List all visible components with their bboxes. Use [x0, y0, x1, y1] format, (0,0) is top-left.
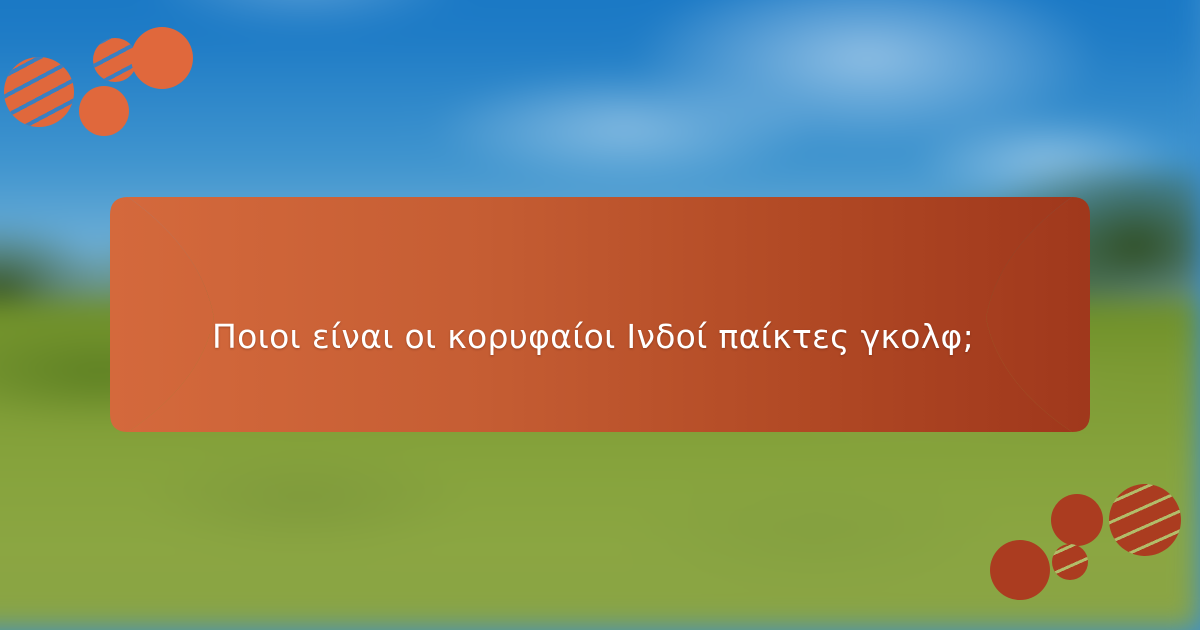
- ball-large-plain: [131, 27, 193, 89]
- ball-large-striped: [1109, 484, 1181, 556]
- ball-large-striped: [4, 57, 74, 127]
- ball-large-plain: [990, 540, 1050, 600]
- golf-ball-cluster-top-left: [0, 0, 220, 150]
- ribbon-banner: [108, 194, 1092, 435]
- social-card: Ποιοι είναι οι κορυφαίοι Ινδοί παίκτες γ…: [0, 0, 1200, 630]
- golf-ball-cluster-bottom-right: [980, 470, 1200, 630]
- ball-medium-plain: [1051, 494, 1103, 546]
- ribbon-banner-body: [128, 197, 1072, 432]
- ball-medium-plain: [79, 86, 129, 136]
- ball-small-striped: [1052, 544, 1088, 580]
